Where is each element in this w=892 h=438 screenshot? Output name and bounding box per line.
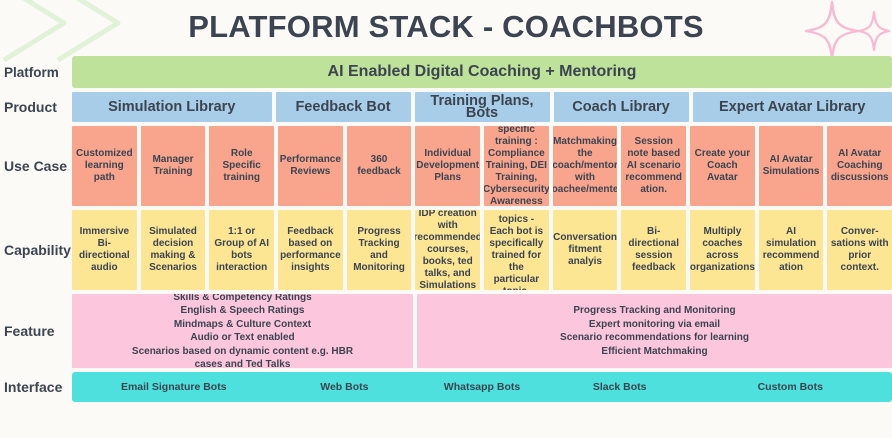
row-label-interface: Interface — [0, 372, 72, 402]
row-capability: Capability Immersive Bi-directional audi… — [0, 210, 892, 290]
usecase-cell[interactable]: Role Specific training — [209, 126, 274, 206]
row-label-platform: Platform — [0, 56, 72, 88]
capability-cell[interactable]: Simulated decision making & Scenarios — [141, 210, 206, 290]
row-product: Product Simulation Library Feedback Bot … — [0, 92, 892, 122]
capability-cell[interactable]: IDP creation with recommended courses, b… — [415, 210, 480, 290]
capability-cell[interactable]: Conversation fitment analyis — [553, 210, 618, 290]
row-platform: Platform AI Enabled Digital Coaching + M… — [0, 56, 892, 88]
feature-cell[interactable]: Skills & Competency Ratings English & Sp… — [72, 294, 413, 368]
row-label-capability: Capability — [0, 210, 72, 290]
feature-line: Audio or Text enabled — [190, 331, 294, 345]
usecase-cell[interactable]: Performance Reviews — [278, 126, 343, 206]
product-cell[interactable]: Expert Avatar Library — [693, 92, 892, 122]
capability-cell[interactable]: 1:1 or Group of AI bots interaction — [209, 210, 274, 290]
product-cell[interactable]: Training Plans, Bots — [415, 92, 550, 122]
capability-cell[interactable]: On demand topics - Each bot is specifica… — [484, 210, 549, 290]
interface-band: Email Signature Bots Web Bots Whatsapp B… — [72, 372, 892, 402]
usecase-cell[interactable]: AI Avatar Simulations — [759, 126, 824, 206]
feature-line: Skills & Competency Ratings — [173, 294, 311, 304]
row-label-usecase: Use Case — [0, 126, 72, 206]
feature-line: English & Speech Ratings — [181, 304, 305, 318]
row-label-product: Product — [0, 92, 72, 122]
usecase-cell[interactable]: Create your Coach Avatar — [690, 126, 755, 206]
capability-cell[interactable]: Progress Tracking and Monitoring — [347, 210, 412, 290]
stack-grid: Platform AI Enabled Digital Coaching + M… — [0, 56, 892, 406]
row-label-feature: Feature — [0, 294, 72, 368]
row-usecase-cells: Customized learning path Manager Trainin… — [72, 126, 892, 206]
platform-cell[interactable]: AI Enabled Digital Coaching + Mentoring — [72, 56, 892, 88]
capability-cell[interactable]: Multiply coaches across organizations — [690, 210, 755, 290]
row-interface: Interface Email Signature Bots Web Bots … — [0, 372, 892, 402]
feature-line: Efficient Matchmaking — [601, 345, 707, 359]
row-interface-cells: Email Signature Bots Web Bots Whatsapp B… — [72, 372, 892, 402]
capability-cell[interactable]: Bi-directional session feedback — [621, 210, 686, 290]
feature-line: Mindmaps & Culture Context — [174, 318, 311, 332]
capability-cell[interactable]: Conver-sations with prior context. — [827, 210, 892, 290]
product-cell[interactable]: Feedback Bot — [276, 92, 411, 122]
page-title: PLATFORM STACK - COACHBOTS — [0, 4, 892, 50]
feature-line: Expert monitoring via email — [589, 318, 720, 332]
row-product-cells: Simulation Library Feedback Bot Training… — [72, 92, 892, 122]
capability-cell[interactable]: Immersive Bi-directional audio — [72, 210, 137, 290]
feature-line: Scenarios based on dynamic content e.g. … — [118, 345, 368, 369]
capability-cell[interactable]: Feedback based on performance insights — [278, 210, 343, 290]
feature-line: Progress Tracking and Monitoring — [573, 304, 735, 318]
capability-cell[interactable]: AI simulation recommend ation — [759, 210, 824, 290]
usecase-cell[interactable]: Individual Development Plans — [415, 126, 480, 206]
row-feature-cells: Skills & Competency Ratings English & Sp… — [72, 294, 892, 368]
row-usecase: Use Case Customized learning path Manage… — [0, 126, 892, 206]
row-feature: Feature Skills & Competency Ratings Engl… — [0, 294, 892, 368]
usecase-cell[interactable]: 360 feedback — [347, 126, 412, 206]
interface-cell[interactable]: Web Bots — [276, 372, 414, 402]
usecase-cell[interactable]: Session note based AI scenario recommend… — [621, 126, 686, 206]
usecase-cell[interactable]: AI Avatar Coaching discussions — [827, 126, 892, 206]
infographic-canvas: PLATFORM STACK - COACHBOTS Platform AI E… — [0, 0, 892, 438]
interface-cell[interactable]: Whatsapp Bots — [413, 372, 551, 402]
feature-line: Scenario recommendations for learning — [560, 331, 749, 345]
interface-cell[interactable]: Email Signature Bots — [72, 372, 276, 402]
product-cell[interactable]: Coach Library — [554, 92, 689, 122]
usecase-cell[interactable]: Matchmaking the coach/mentor with coache… — [553, 126, 618, 206]
product-cell[interactable]: Simulation Library — [72, 92, 272, 122]
row-platform-cells: AI Enabled Digital Coaching + Mentoring — [72, 56, 892, 88]
usecase-cell[interactable]: Subject specific training : Compliance T… — [484, 126, 549, 206]
row-capability-cells: Immersive Bi-directional audio Simulated… — [72, 210, 892, 290]
feature-cell[interactable]: Progress Tracking and Monitoring Expert … — [417, 294, 892, 368]
usecase-cell[interactable]: Customized learning path — [72, 126, 137, 206]
interface-cell[interactable]: Slack Bots — [551, 372, 689, 402]
usecase-cell[interactable]: Manager Training — [141, 126, 206, 206]
interface-cell[interactable]: Custom Bots — [689, 372, 892, 402]
